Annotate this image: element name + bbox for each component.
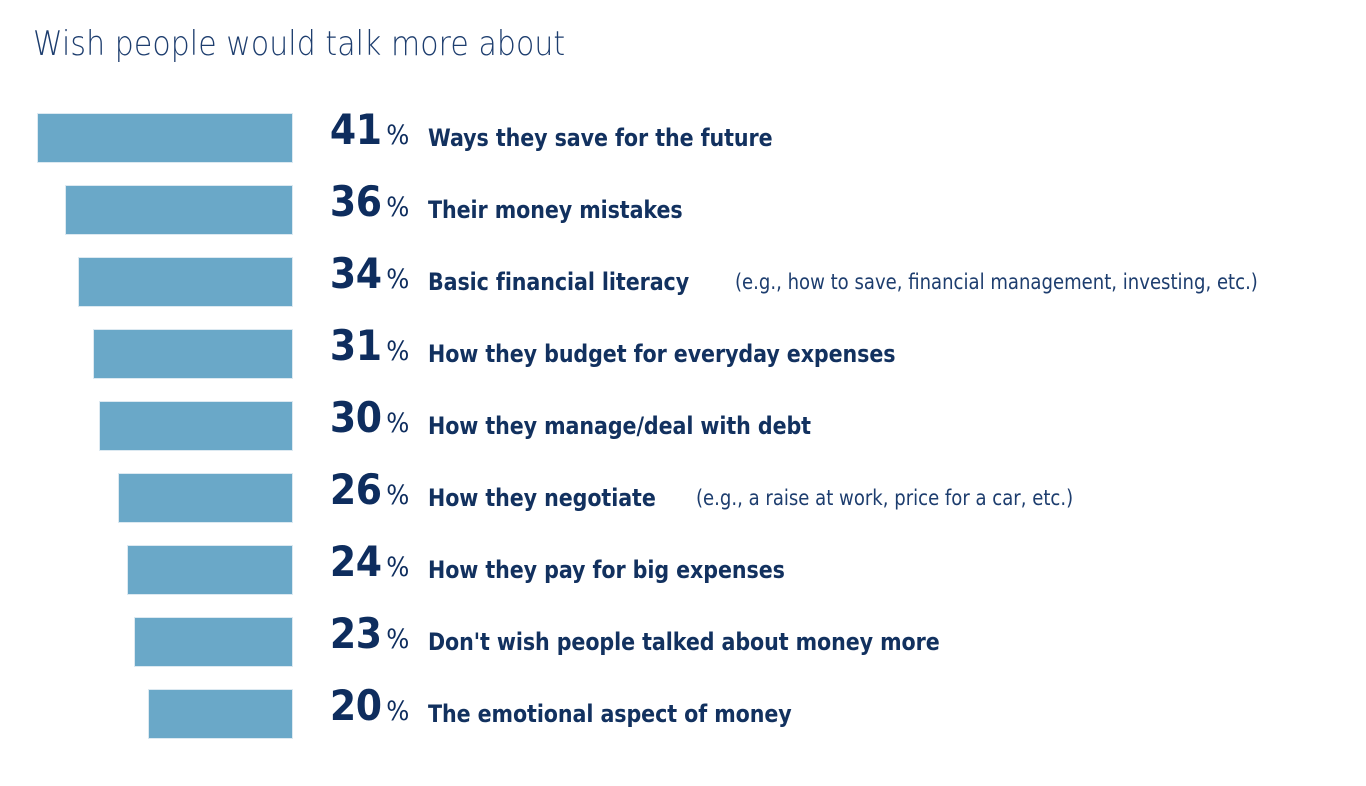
percent-symbol: %	[387, 186, 410, 230]
bar-label: How they pay for big expenses	[428, 540, 843, 600]
bar-value: 30	[330, 396, 382, 440]
value-block: 30%	[300, 396, 411, 456]
bar-row: 24%How they pay for big expenses	[0, 540, 1366, 612]
bar-label: Ways they save for the future	[428, 108, 829, 168]
chart-container: Wish people would talk more about 41%Way…	[0, 0, 1366, 786]
value-block: 24%	[300, 540, 411, 600]
bar-row: 31%How they budget for everyday expenses	[0, 324, 1366, 396]
bar	[119, 474, 292, 522]
bar-value: 36	[330, 180, 382, 224]
value-block: 34%	[300, 252, 411, 312]
bar	[66, 186, 292, 234]
bar-track	[0, 330, 292, 378]
bar	[149, 690, 292, 738]
bar-label-main: How they negotiate	[428, 484, 656, 512]
bar-chart-rows: 41%Ways they save for the future36%Their…	[0, 108, 1366, 756]
bar-row: 20%The emotional aspect of money	[0, 684, 1366, 756]
bar-value: 31	[330, 324, 382, 368]
bar	[135, 618, 292, 666]
bar-label-main: How they budget for everyday expenses	[428, 340, 895, 368]
bar-row: 34%Basic financial literacy(e.g., how to…	[0, 252, 1366, 324]
value-block: 31%	[300, 324, 411, 384]
bar-track	[0, 186, 292, 234]
bar-track	[0, 474, 292, 522]
bar-track	[0, 546, 292, 594]
percent-symbol: %	[387, 114, 410, 158]
bar-label-note: (e.g., a raise at work, price for a car,…	[696, 486, 1073, 510]
bar-label-main: Don't wish people talked about money mor…	[428, 628, 940, 656]
bar-label-main: Their money mistakes	[428, 196, 683, 224]
bar-label: How they budget for everyday expenses	[428, 324, 972, 384]
percent-symbol: %	[387, 474, 410, 518]
percent-symbol: %	[387, 258, 410, 302]
bar	[38, 114, 292, 162]
percent-symbol: %	[387, 402, 410, 446]
bar-value: 24	[330, 540, 382, 584]
bar-label-main: How they manage/deal with debt	[428, 412, 811, 440]
bar-value: 41	[330, 108, 382, 152]
bar-track	[0, 114, 292, 162]
bar-label: The emotional aspect of money	[428, 684, 851, 744]
percent-symbol: %	[387, 546, 410, 590]
bar-label-main: Ways they save for the future	[428, 124, 772, 152]
bar-label-main: The emotional aspect of money	[428, 700, 792, 728]
bar-label: Don't wish people talked about money mor…	[428, 612, 1023, 672]
bar-row: 26%How they negotiate(e.g., a raise at w…	[0, 468, 1366, 540]
bar-row: 30%How they manage/deal with debt	[0, 396, 1366, 468]
bar-label: Basic financial literacy(e.g., how to sa…	[428, 252, 1343, 312]
bar	[94, 330, 292, 378]
bar-track	[0, 402, 292, 450]
bar-value: 23	[330, 612, 382, 656]
percent-symbol: %	[387, 330, 410, 374]
bar	[100, 402, 292, 450]
bar-row: 36%Their money mistakes	[0, 180, 1366, 252]
bar-track	[0, 618, 292, 666]
bar-value: 34	[330, 252, 382, 296]
value-block: 20%	[300, 684, 411, 744]
bar-label-main: Basic financial literacy	[428, 268, 689, 296]
bar	[79, 258, 292, 306]
bar-row: 41%Ways they save for the future	[0, 108, 1366, 180]
bar-value: 26	[330, 468, 382, 512]
bar-value: 20	[330, 684, 382, 728]
value-block: 23%	[300, 612, 411, 672]
value-block: 36%	[300, 180, 411, 240]
bar-track	[0, 690, 292, 738]
bar-label: Their money mistakes	[428, 180, 724, 240]
value-block: 41%	[300, 108, 411, 168]
bar-label: How they negotiate(e.g., a raise at work…	[428, 468, 1134, 528]
bar-label-note: (e.g., how to save, financial management…	[735, 270, 1258, 294]
bar	[128, 546, 292, 594]
value-block: 26%	[300, 468, 411, 528]
bar-track	[0, 258, 292, 306]
bar-label-main: How they pay for big expenses	[428, 556, 785, 584]
bar-row: 23%Don't wish people talked about money …	[0, 612, 1366, 684]
bar-label: How they manage/deal with debt	[428, 396, 873, 456]
chart-title: Wish people would talk more about	[33, 24, 565, 64]
percent-symbol: %	[387, 618, 410, 662]
percent-symbol: %	[387, 690, 410, 734]
